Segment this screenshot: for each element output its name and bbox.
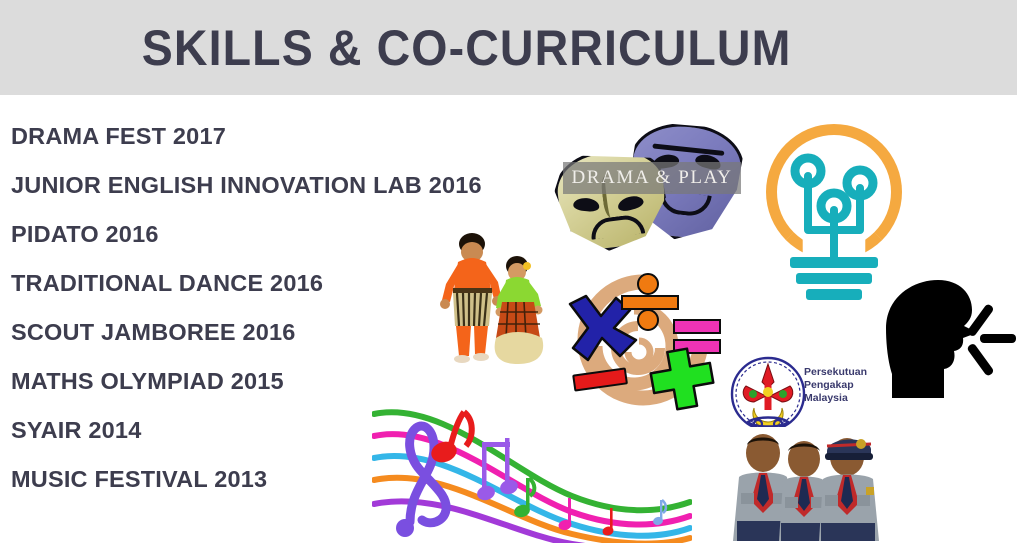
drama-caption-band: DRAMA & PLAY	[563, 162, 741, 194]
public-speaking-head-icon	[868, 276, 1017, 402]
bulb-base-ring-1	[790, 257, 878, 268]
comedy-mask-icon	[550, 144, 673, 257]
scout-logo-text: Persekutuan Pengakap Malaysia	[804, 366, 867, 405]
list-item: JUNIOR ENGLISH INNOVATION LAB 2016	[11, 161, 591, 210]
theatre-masks-icon: DRAMA & PLAY	[556, 124, 746, 242]
drama-caption-text: DRAMA & PLAY	[571, 167, 732, 189]
scout-members-photo	[723, 427, 886, 541]
male-dancer	[440, 233, 502, 363]
note-magenta	[557, 498, 572, 531]
slide-canvas: SKILLS & CO-CURRICULUM DRAMA FEST 2017 J…	[0, 0, 1017, 543]
music-staff-icon	[372, 392, 692, 543]
clef-dot	[396, 519, 414, 537]
female-dancer	[495, 256, 544, 364]
list-item: DRAMA FEST 2017	[11, 112, 591, 161]
equals-symbol	[674, 320, 720, 353]
traditional-dancers-image	[428, 228, 558, 373]
bulb-base-ring-3	[806, 289, 862, 300]
scout-right	[819, 438, 879, 541]
page-title: SKILLS & CO-CURRICULUM	[36, 0, 982, 95]
bulb-base-ring-2	[796, 273, 872, 284]
